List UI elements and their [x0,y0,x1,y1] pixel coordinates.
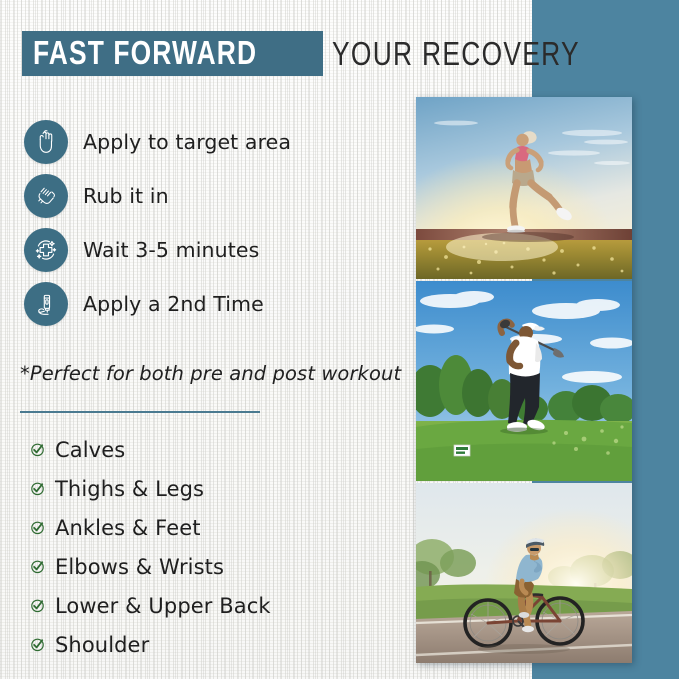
list-item: Thighs & Legs [30,469,410,508]
hands-rub-icon [24,174,68,218]
step-label: Apply a 2nd Time [83,292,264,316]
check-icon [30,481,45,496]
tube-dispense-icon [24,282,68,326]
photo-golfer-swing [416,281,632,481]
list-item: Elbows & Wrists [30,547,410,586]
title-highlight-text: FAST FORWARD [33,36,257,69]
healing-cross-icon [24,228,68,272]
list-item: Calves [30,430,410,469]
benefit-label: Thighs & Legs [55,477,204,501]
step-label: Wait 3-5 minutes [83,238,259,262]
photo-column [416,97,632,663]
hand-apply-icon [24,120,68,164]
title-highlight-box: FAST FORWARD [22,31,323,76]
benefit-label: Shoulder [55,633,149,657]
steps-list: Apply to target area Rub it in [24,115,394,331]
page-title: FAST FORWARD YOUR RECOVERY [22,31,642,76]
title-rest-box: YOUR RECOVERY [323,31,642,76]
step-item: Wait 3-5 minutes [24,223,394,277]
benefit-label: Ankles & Feet [55,516,201,540]
check-icon [30,442,45,457]
list-item: Ankles & Feet [30,508,410,547]
pre-post-workout-note: *Perfect for both pre and post workout [20,362,401,385]
photo-cyclist-sunset [416,483,632,663]
poster-root: FAST FORWARD YOUR RECOVERY Apply to targ… [0,0,679,679]
benefit-label: Lower & Upper Back [55,594,271,618]
step-label: Rub it in [83,184,169,208]
benefits-list: Calves Thighs & Legs Ankles & Feet [30,430,410,664]
check-icon [30,520,45,535]
list-item: Shoulder [30,625,410,664]
step-item: Apply a 2nd Time [24,277,394,331]
section-divider [20,411,260,413]
title-rest-text: YOUR RECOVERY [332,37,580,70]
check-icon [30,559,45,574]
check-icon [30,637,45,652]
photo-runner-sunrise [416,97,632,279]
benefit-label: Elbows & Wrists [55,555,224,579]
step-item: Rub it in [24,169,394,223]
step-label: Apply to target area [83,130,291,154]
step-item: Apply to target area [24,115,394,169]
list-item: Lower & Upper Back [30,586,410,625]
benefit-label: Calves [55,438,125,462]
check-icon [30,598,45,613]
